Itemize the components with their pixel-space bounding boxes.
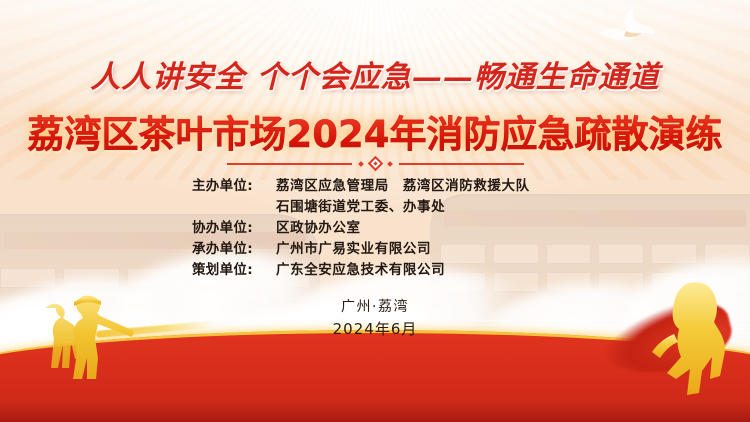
location-date-block: 广州·荔湾 2024年6月 [0, 296, 750, 340]
organizer-list: 主办单位: 荔湾区应急管理局荔湾区消防救援大队 主办单位: 石围塘街道党工委、办… [0, 176, 750, 281]
organizer-row: 协办单位: 区政协办公室 [192, 218, 558, 239]
organizer-row: 策划单位: 广东全安应急技术有限公司 [192, 260, 558, 281]
location-text: 广州·荔湾 [0, 296, 750, 318]
organizer-label: 主办单位: [192, 176, 276, 197]
dove-icon [592, 6, 658, 46]
organizer-row: 承办单位: 广州市广易实业有限公司 [192, 239, 558, 260]
organizer-label: 承办单位: [192, 239, 276, 260]
organizer-value: 广东全安应急技术有限公司 [276, 260, 558, 281]
organizer-value: 区政协办公室 [276, 218, 558, 239]
organizer-value: 广州市广易实业有限公司 [276, 239, 558, 260]
poster-canvas: 人人讲安全 个个会应急——畅通生命通道 荔湾区茶叶市场2024年消防应急疏散演练… [0, 0, 750, 422]
ornament-divider [0, 158, 750, 169]
organizer-label: 协办单位: [192, 218, 276, 239]
date-text: 2024年6月 [0, 318, 750, 340]
page-title: 荔湾区茶叶市场2024年消防应急疏散演练 [0, 104, 750, 158]
organizer-row: 主办单位: 石围塘街道党工委、办事处 [192, 197, 558, 218]
slogan-text: 人人讲安全 个个会应急——畅通生命通道 [0, 52, 750, 96]
organizer-value: 荔湾区应急管理局荔湾区消防救援大队 [276, 176, 558, 197]
organizer-label: 策划单位: [192, 260, 276, 281]
divider-rule-right [399, 163, 524, 165]
divider-diamond-icon [367, 156, 383, 172]
divider-dot-right [387, 161, 393, 167]
organizer-value: 石围塘街道党工委、办事处 [276, 197, 558, 218]
organizer-row: 主办单位: 荔湾区应急管理局荔湾区消防救援大队 [192, 176, 558, 197]
divider-dot-left [358, 161, 364, 167]
divider-rule-left [227, 163, 352, 165]
